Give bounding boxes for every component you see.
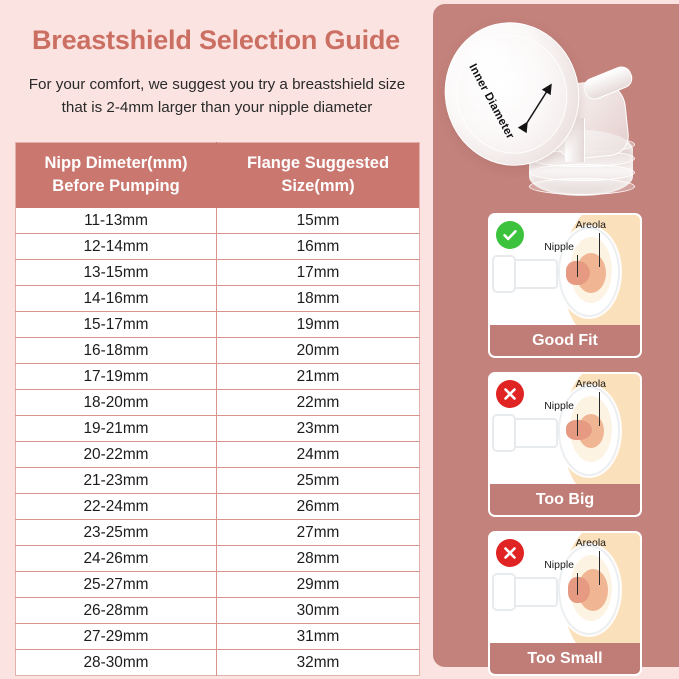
areola-leader-line [599,392,600,426]
cell-nipple-diameter: 26-28mm [16,598,217,624]
cell-flange-size: 18mm [217,286,420,312]
table-row: 28-30mm32mm [16,650,420,676]
table-row: 27-29mm31mm [16,624,420,650]
cell-flange-size: 21mm [217,364,420,390]
cell-nipple-diameter: 12-14mm [16,234,217,260]
table-row: 12-14mm16mm [16,234,420,260]
flange-tunnel-cap-shape [492,414,516,452]
cell-nipple-diameter: 27-29mm [16,624,217,650]
cell-nipple-diameter: 23-25mm [16,520,217,546]
fit-card-label: Good Fit [490,325,640,356]
cell-nipple-diameter: 16-18mm [16,338,217,364]
table-row: 21-23mm25mm [16,468,420,494]
size-chart-table: Nipp Dimeter(mm) Before Pumping Flange S… [15,142,420,676]
table-row: 16-18mm20mm [16,338,420,364]
column-header-flange-size-line1: Flange Suggested [221,152,415,175]
fit-card-too-small: Areola Nipple Too Small [488,531,642,676]
check-icon [496,221,524,249]
cell-nipple-diameter: 17-19mm [16,364,217,390]
cell-flange-size: 30mm [217,598,420,624]
nipple-shape [566,420,592,440]
cell-flange-size: 27mm [217,520,420,546]
cell-nipple-diameter: 18-20mm [16,390,217,416]
areola-leader-line [599,551,600,585]
table-header: Nipp Dimeter(mm) Before Pumping Flange S… [16,143,420,209]
cell-flange-size: 28mm [217,546,420,572]
areola-leader-line [599,233,600,267]
cell-nipple-diameter: 13-15mm [16,260,217,286]
fit-illustration: Areola Nipple [490,374,640,484]
page-title: Breastshield Selection Guide [0,25,432,56]
cell-flange-size: 26mm [217,494,420,520]
breastshield-product-image: Inner Diameter [433,10,679,208]
cell-flange-size: 17mm [217,260,420,286]
flange-tunnel-cap-shape [492,255,516,293]
cell-flange-size: 19mm [217,312,420,338]
cell-nipple-diameter: 25-27mm [16,572,217,598]
cell-flange-size: 23mm [217,416,420,442]
cell-nipple-diameter: 21-23mm [16,468,217,494]
table-row: 22-24mm26mm [16,494,420,520]
table-body: 11-13mm15mm12-14mm16mm13-15mm17mm14-16mm… [16,208,420,676]
cell-flange-size: 32mm [217,650,420,676]
table-row: 24-26mm28mm [16,546,420,572]
breastshield-selection-guide-page: Breastshield Selection Guide For your co… [0,0,679,679]
cell-nipple-diameter: 22-24mm [16,494,217,520]
cell-nipple-diameter: 15-17mm [16,312,217,338]
fit-card-good-fit: Areola Nipple Good Fit [488,213,642,358]
table-row: 19-21mm23mm [16,416,420,442]
cell-flange-size: 15mm [217,208,420,234]
cell-flange-size: 31mm [217,624,420,650]
column-header-nipple-diameter-line1: Nipp Dimeter(mm) [20,152,212,175]
nipple-callout-label: Nipple [544,559,574,571]
column-header-nipple-diameter: Nipp Dimeter(mm) Before Pumping [16,143,217,209]
fit-card-label: Too Small [490,643,640,674]
cell-nipple-diameter: 20-22mm [16,442,217,468]
nipple-callout-label: Nipple [544,241,574,253]
table-row: 26-28mm30mm [16,598,420,624]
cell-nipple-diameter: 24-26mm [16,546,217,572]
table-row: 20-22mm24mm [16,442,420,468]
flange-tunnel-cap-shape [492,573,516,611]
table-row: 25-27mm29mm [16,572,420,598]
table-row: 13-15mm17mm [16,260,420,286]
nipple-shape [566,261,590,285]
illustration-panel: Inner Diameter Areola Nipple [433,4,679,667]
fit-card-too-big: Areola Nipple Too Big [488,372,642,517]
cell-nipple-diameter: 28-30mm [16,650,217,676]
table-row: 18-20mm22mm [16,390,420,416]
table-header-row: Nipp Dimeter(mm) Before Pumping Flange S… [16,143,420,209]
inner-diameter-arrow-icon [433,10,679,208]
cell-flange-size: 16mm [217,234,420,260]
cell-flange-size: 22mm [217,390,420,416]
cell-nipple-diameter: 19-21mm [16,416,217,442]
cell-flange-size: 24mm [217,442,420,468]
nipple-leader-line [577,255,578,277]
nipple-leader-line [577,414,578,436]
fit-illustration: Areola Nipple [490,215,640,325]
page-subtitle: For your comfort, we suggest you try a b… [14,73,420,119]
guide-left-column: Breastshield Selection Guide For your co… [0,0,432,679]
cross-icon [496,539,524,567]
nipple-shape [568,577,590,603]
table-row: 11-13mm15mm [16,208,420,234]
table-row: 14-16mm18mm [16,286,420,312]
column-header-flange-size-line2: Size(mm) [221,175,415,198]
cell-flange-size: 25mm [217,468,420,494]
table-row: 17-19mm21mm [16,364,420,390]
cell-flange-size: 20mm [217,338,420,364]
areola-callout-label: Areola [576,219,606,231]
table-row: 15-17mm19mm [16,312,420,338]
table-row: 23-25mm27mm [16,520,420,546]
cell-nipple-diameter: 14-16mm [16,286,217,312]
fit-card-label: Too Big [490,484,640,515]
cell-flange-size: 29mm [217,572,420,598]
column-header-nipple-diameter-line2: Before Pumping [20,175,212,198]
nipple-leader-line [577,573,578,595]
areola-callout-label: Areola [576,537,606,549]
cell-nipple-diameter: 11-13mm [16,208,217,234]
product-image-stage: Inner Diameter [433,10,679,208]
areola-callout-label: Areola [576,378,606,390]
fit-illustration: Areola Nipple [490,533,640,643]
cross-icon [496,380,524,408]
column-header-flange-size: Flange Suggested Size(mm) [217,143,420,209]
nipple-callout-label: Nipple [544,400,574,412]
